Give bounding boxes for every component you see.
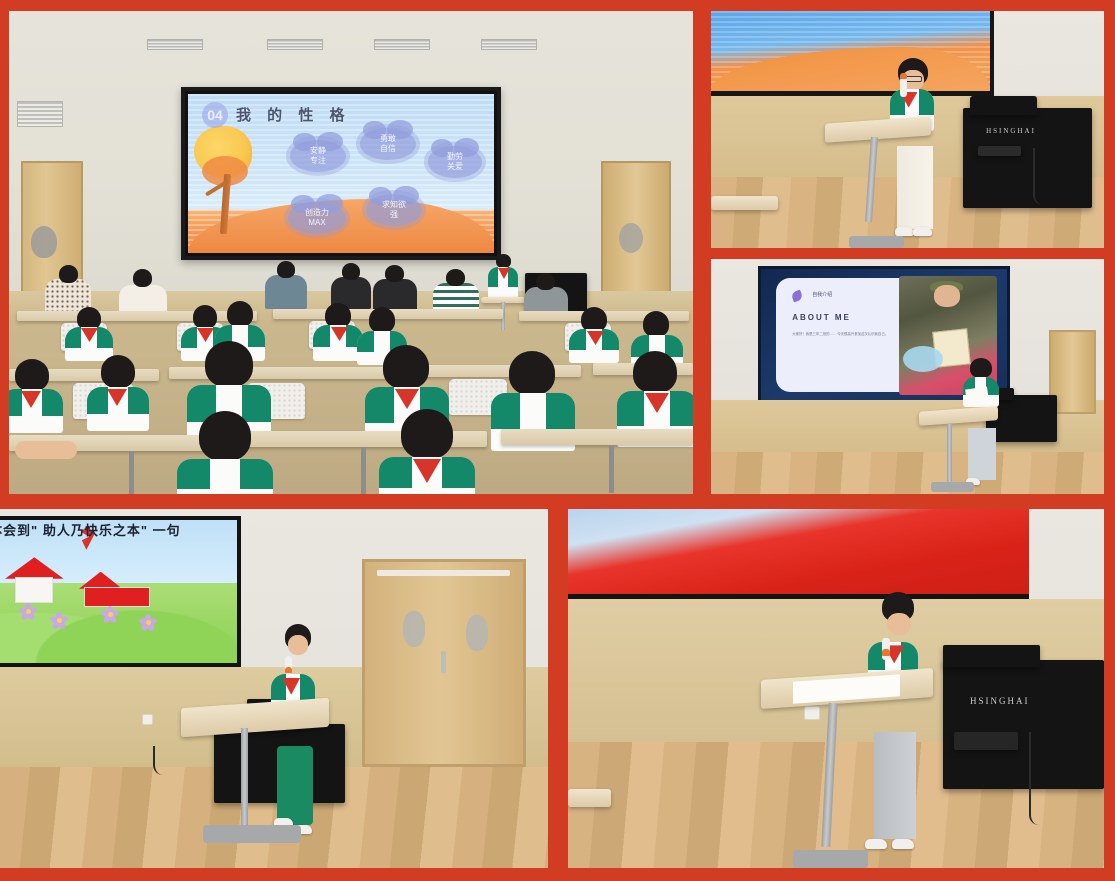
adult-head <box>536 273 555 290</box>
screen-dune-graphic <box>711 47 990 91</box>
photo-podium-boy: HSINGHAI <box>711 11 1104 248</box>
lectern-post <box>241 728 248 825</box>
girl-trousers <box>277 746 313 825</box>
slide-cloud-bubble: 创造力 MAX <box>288 202 346 234</box>
door-window-right <box>619 223 643 253</box>
cloud-line-2: 关爱 <box>447 162 463 172</box>
slide-house-roof <box>5 557 64 578</box>
adult-head <box>277 261 295 278</box>
cloud-line-2: MAX <box>308 218 325 228</box>
boy-shorts <box>968 428 996 480</box>
student-head <box>643 311 669 337</box>
boy-shoe-right <box>913 227 932 236</box>
adult-head <box>59 265 78 283</box>
student-head <box>383 345 429 389</box>
lectern-base <box>849 236 904 248</box>
slide-cloud-bubble: 求知欲 强 <box>366 194 422 226</box>
piano-bench <box>978 146 1021 155</box>
desk-leg <box>361 447 366 494</box>
piano-lid <box>970 96 1037 115</box>
slide-barn-body <box>84 587 150 607</box>
boy-shoe-left <box>895 227 914 236</box>
slide-cloud-bubble: 勇敢 自信 <box>360 128 416 160</box>
boy-head <box>970 358 992 378</box>
student-head <box>15 359 49 391</box>
boy-face <box>887 613 911 635</box>
slide-badge-label: 自我介绍 <box>812 291 832 298</box>
slide-title: ABOUT ME <box>792 313 851 322</box>
student-face <box>934 285 960 306</box>
piano <box>943 660 1104 789</box>
student-head <box>369 307 395 333</box>
feather-icon <box>791 290 804 303</box>
slide-flower-icon <box>20 603 36 619</box>
piano-cable <box>1029 732 1041 825</box>
student-head-front <box>199 411 251 461</box>
adult-head <box>385 265 404 282</box>
microphone-head <box>900 73 907 79</box>
boy-shoe-left <box>865 839 887 849</box>
student-head <box>101 355 135 388</box>
led-screen <box>0 516 241 667</box>
lectern-post <box>947 424 952 485</box>
piano-cable <box>1033 148 1043 205</box>
slide-house-body <box>15 577 53 603</box>
cloud-line-2: 自信 <box>380 144 396 154</box>
side-table <box>711 196 778 210</box>
seated-adult <box>265 275 307 309</box>
girl-face <box>288 635 308 655</box>
floor-cable <box>153 746 181 775</box>
side-table <box>568 789 611 807</box>
classroom-desk <box>169 367 389 379</box>
student-uniform-front <box>177 459 273 494</box>
microphone <box>900 77 907 97</box>
cloud-line-2: 专注 <box>310 156 326 166</box>
student-head <box>633 351 677 393</box>
photo-boy-reading: HSINGHAI <box>568 509 1104 868</box>
boy-shoe-right <box>892 839 914 849</box>
cloud-line-1: 求知欲 <box>382 200 406 210</box>
slide-cloud-bubble: 安静 专注 <box>290 140 346 172</box>
door-window-right <box>466 615 488 651</box>
led-screen <box>568 509 1029 599</box>
door-window-left <box>31 226 57 258</box>
door-light-bar <box>377 570 510 576</box>
microphone-head <box>882 649 890 656</box>
desk-leg <box>609 445 614 493</box>
cloud-decoration-icon <box>903 346 943 372</box>
classroom-desk-front <box>501 429 693 445</box>
student-arm <box>15 441 77 459</box>
slide-flower-icon <box>140 614 156 630</box>
door-window-left <box>403 611 425 647</box>
lectern-base <box>931 482 974 491</box>
slide-number-badge: 04 <box>202 102 228 128</box>
photo-girl-speech: 体会到" 助人乃快乐之本" 一句 <box>0 509 548 868</box>
ceiling-vent-icon <box>267 39 323 50</box>
student-head-front <box>401 409 453 459</box>
adult-head <box>133 269 152 287</box>
slide-cloud-bubble: 勤劳 关爱 <box>428 146 482 178</box>
lectern-base <box>793 850 868 868</box>
lectern-base <box>203 825 302 843</box>
led-screen <box>711 11 994 96</box>
presenter-head <box>496 254 511 268</box>
boy-trousers <box>897 146 933 229</box>
classroom-desk <box>17 311 257 321</box>
led-display-screen: 04 我 的 性 格 安静 专注 勇敢 自信 勤劳 关爱 创造力 MAX <box>181 87 501 260</box>
slide-flower-icon <box>102 606 118 622</box>
photo-classroom-audience: 04 我 的 性 格 安静 专注 勇敢 自信 勤劳 关爱 创造力 MAX <box>9 11 693 494</box>
piano-bench <box>954 732 1018 750</box>
adult-head <box>446 269 465 286</box>
desk-leg <box>129 451 134 494</box>
slide-title: 我 的 性 格 <box>236 104 351 125</box>
ceiling-vent-icon <box>374 39 430 50</box>
student-head <box>509 351 555 395</box>
wall-socket <box>804 706 820 720</box>
student-head <box>227 301 253 327</box>
door-handle <box>441 651 446 673</box>
student-head <box>193 305 217 329</box>
piano-brand-label: HSINGHAI <box>970 696 1030 706</box>
photo-about-me-slide: 自我介绍 ABOUT ME 大家好！我是三年二班的…… 今天很高兴参加这次认识我… <box>711 259 1104 494</box>
adult-head <box>342 263 360 280</box>
piano-lid <box>943 645 1039 667</box>
wood-floor <box>711 452 1104 494</box>
piano <box>963 108 1093 208</box>
photo-collage: 04 我 的 性 格 安静 专注 勇敢 自信 勤劳 关爱 创造力 MAX <box>0 0 1115 881</box>
microphone-head <box>285 667 292 673</box>
slide-house-roof <box>79 572 122 589</box>
cloud-line-1: 勇敢 <box>380 134 396 144</box>
ceiling-vent-icon <box>481 39 537 50</box>
piano-brand-label: HSINGHAI <box>986 127 1036 135</box>
boy-trousers <box>874 732 916 840</box>
slide-body-text: 大家好！我是三年二班的…… 今天很高兴参加这次认识我自己。 <box>792 331 894 338</box>
ceiling-vent-icon <box>147 39 203 50</box>
cloud-line-1: 安静 <box>310 146 326 156</box>
wall-socket <box>142 714 153 725</box>
wall-vent-icon <box>17 101 63 127</box>
cloud-line-1: 勤劳 <box>447 152 463 162</box>
slide-caption-text: 体会到" 助人乃快乐之本" 一句 <box>0 520 181 539</box>
slide-flower-icon <box>51 612 67 628</box>
student-head <box>205 341 253 387</box>
cloud-line-2: 强 <box>390 210 398 220</box>
presentation-slide: 04 我 的 性 格 安静 专注 勇敢 自信 勤劳 关爱 创造力 MAX <box>188 94 494 253</box>
double-door <box>362 559 526 767</box>
cloud-line-1: 创造力 <box>305 208 329 218</box>
